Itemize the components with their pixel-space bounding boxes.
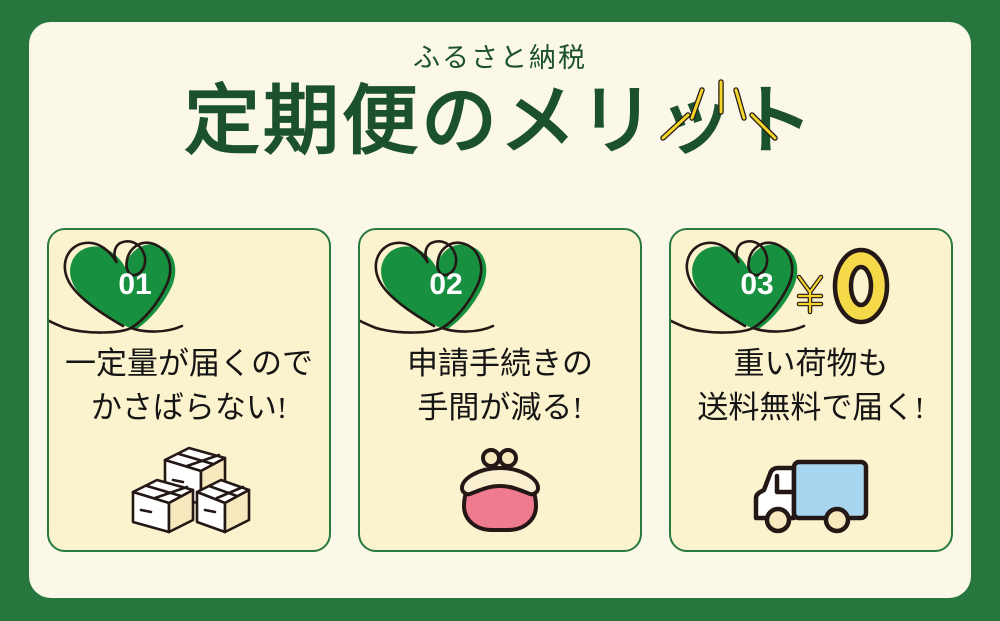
card-number-badge: 01 <box>108 268 162 302</box>
card-text-line: 手間が減る! <box>360 386 640 430</box>
card-text-line: 送料無料で届く! <box>671 386 951 430</box>
badge-area: 01 <box>49 230 329 340</box>
outer-green-frame: ふるさと納税 定期便のメリット <box>0 0 1000 621</box>
header: ふるさと納税 定期便のメリット <box>29 44 971 165</box>
header-subtitle: ふるさと納税 <box>29 44 971 74</box>
delivery-truck-icon <box>750 454 872 538</box>
badge-area: 03 <box>671 230 951 340</box>
card-text: 重い荷物も 送料無料で届く! <box>671 342 951 430</box>
merit-cards-row: 01 一定量が届くので かさばらない! <box>47 228 953 554</box>
card-number-badge: 03 <box>730 268 784 302</box>
merit-card-03[interactable]: 03 <box>669 228 953 552</box>
yen-zero-icon <box>789 246 899 326</box>
card-text: 一定量が届くので かさばらない! <box>49 342 329 430</box>
card-text-line: 重い荷物も <box>671 342 951 386</box>
content-panel: ふるさと納税 定期便のメリット <box>29 22 971 598</box>
card-illustration <box>360 434 640 538</box>
card-text-line: かさばらない! <box>49 386 329 430</box>
coin-purse-icon <box>448 444 552 538</box>
heart-badge-icon <box>49 234 331 340</box>
card-text: 申請手続きの 手間が減る! <box>360 342 640 430</box>
badge-area: 02 <box>360 230 640 340</box>
stacked-boxes-icon <box>125 438 253 538</box>
card-illustration <box>49 434 329 538</box>
card-number-badge: 02 <box>419 268 473 302</box>
card-illustration <box>671 434 951 538</box>
card-text-line: 申請手続きの <box>360 342 640 386</box>
page-title: 定期便のメリット <box>29 80 971 165</box>
merit-card-02[interactable]: 02 申請手続きの 手間が減る! <box>358 228 642 552</box>
merit-card-01[interactable]: 01 一定量が届くので かさばらない! <box>47 228 331 552</box>
heart-badge-icon <box>360 234 642 340</box>
card-text-line: 一定量が届くので <box>49 342 329 386</box>
